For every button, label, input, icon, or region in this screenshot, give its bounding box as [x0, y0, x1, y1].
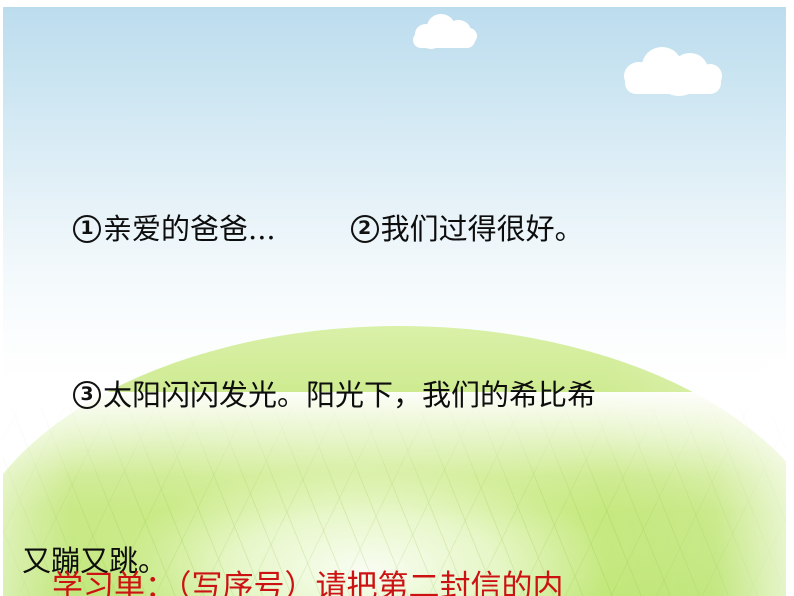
letter-line-2: 3太阳闪闪发光。阳光下，我们的希比希 — [0, 375, 794, 417]
cloud-small-icon — [411, 12, 479, 50]
circled-number-2: 2 — [350, 214, 380, 244]
left-white-border — [0, 0, 3, 596]
slide-canvas: 1亲爱的爸爸...2我们过得很好。 3太阳闪闪发光。阳光下，我们的希比希 又蹦又… — [0, 0, 794, 596]
letter-line-1: 1亲爱的爸爸...2我们过得很好。 — [0, 209, 794, 251]
circled-number-1: 1 — [72, 214, 102, 244]
top-white-border — [0, 0, 794, 7]
circled-number-3: 3 — [72, 380, 102, 410]
worksheet-line-1-text: 学习单：（写序号）请把第二封信的内 — [52, 569, 564, 596]
right-white-border — [786, 0, 794, 596]
letter-line-1-text-a: 亲爱的爸爸... — [103, 212, 276, 246]
worksheet-line-1: 学习单：（写序号）请把第二封信的内 — [0, 566, 794, 596]
letter-line-1-text-b: 我们过得很好。 — [381, 212, 584, 246]
letter-line-2-text: 太阳闪闪发光。阳光下，我们的希比希 — [103, 378, 596, 412]
worksheet-prompt: 学习单：（写序号）请把第二封信的内 容按顺序写在（1234568）里。 — [0, 440, 794, 596]
